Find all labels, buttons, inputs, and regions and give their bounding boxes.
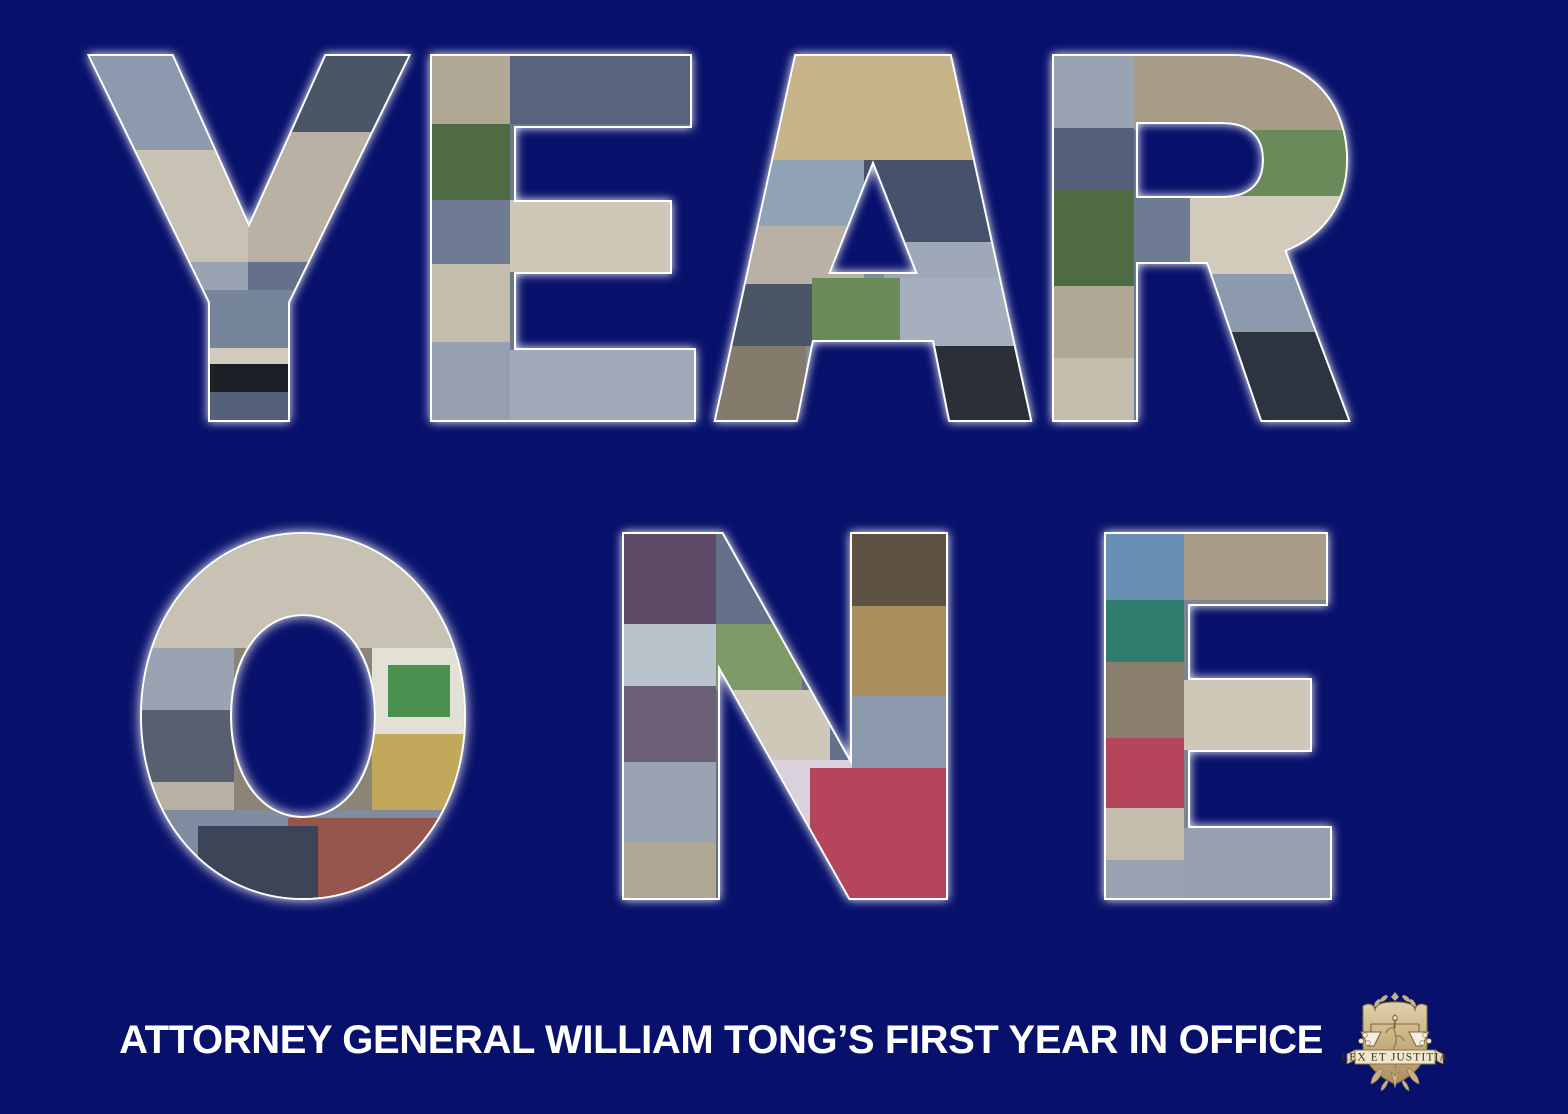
- headline-line-2: O: [138, 530, 1332, 902]
- caption-row: ATTORNEY GENERAL WILLIAM TONG’S FIRST YE…: [0, 985, 1568, 1095]
- caption-text: ATTORNEY GENERAL WILLIAM TONG’S FIRST YE…: [119, 1020, 1323, 1060]
- letter-r-svg: [1050, 52, 1350, 424]
- letter-y-collage: [88, 52, 410, 424]
- letter-e-svg: [428, 52, 696, 424]
- poster-root: Y: [0, 0, 1568, 1114]
- letter-e2-tile: E: [1102, 530, 1332, 902]
- letter-e-collage: [428, 52, 696, 424]
- letter-n-tile: N: [620, 530, 950, 902]
- letter-a-svg: [714, 52, 1032, 424]
- letter-e2-collage: [1102, 530, 1332, 902]
- letter-r-tile: R: [1050, 52, 1350, 424]
- letter-o-tile: O: [138, 530, 468, 902]
- headline-line-1: Y: [88, 52, 1350, 424]
- seal-banner: LEX ET JUSTITIA: [1341, 1050, 1449, 1064]
- letter-y-svg: [88, 52, 410, 424]
- letter-o-svg: [138, 530, 468, 902]
- letter-e-tile: E: [428, 52, 696, 424]
- letter-a-collage: [714, 52, 1032, 424]
- letter-n-collage: [620, 530, 950, 902]
- seal-svg: LEX ET JUSTITIA: [1341, 988, 1449, 1092]
- letter-e2-svg: [1102, 530, 1332, 902]
- connecticut-attorney-general-seal-icon: LEX ET JUSTITIA: [1341, 988, 1449, 1092]
- letter-a-tile: A: [714, 52, 1032, 424]
- letter-y-tile: Y: [88, 52, 410, 424]
- letter-r-collage: [1050, 52, 1350, 424]
- seal-motto-text: LEX ET JUSTITIA: [1341, 1052, 1449, 1064]
- letter-n-svg: [620, 530, 950, 902]
